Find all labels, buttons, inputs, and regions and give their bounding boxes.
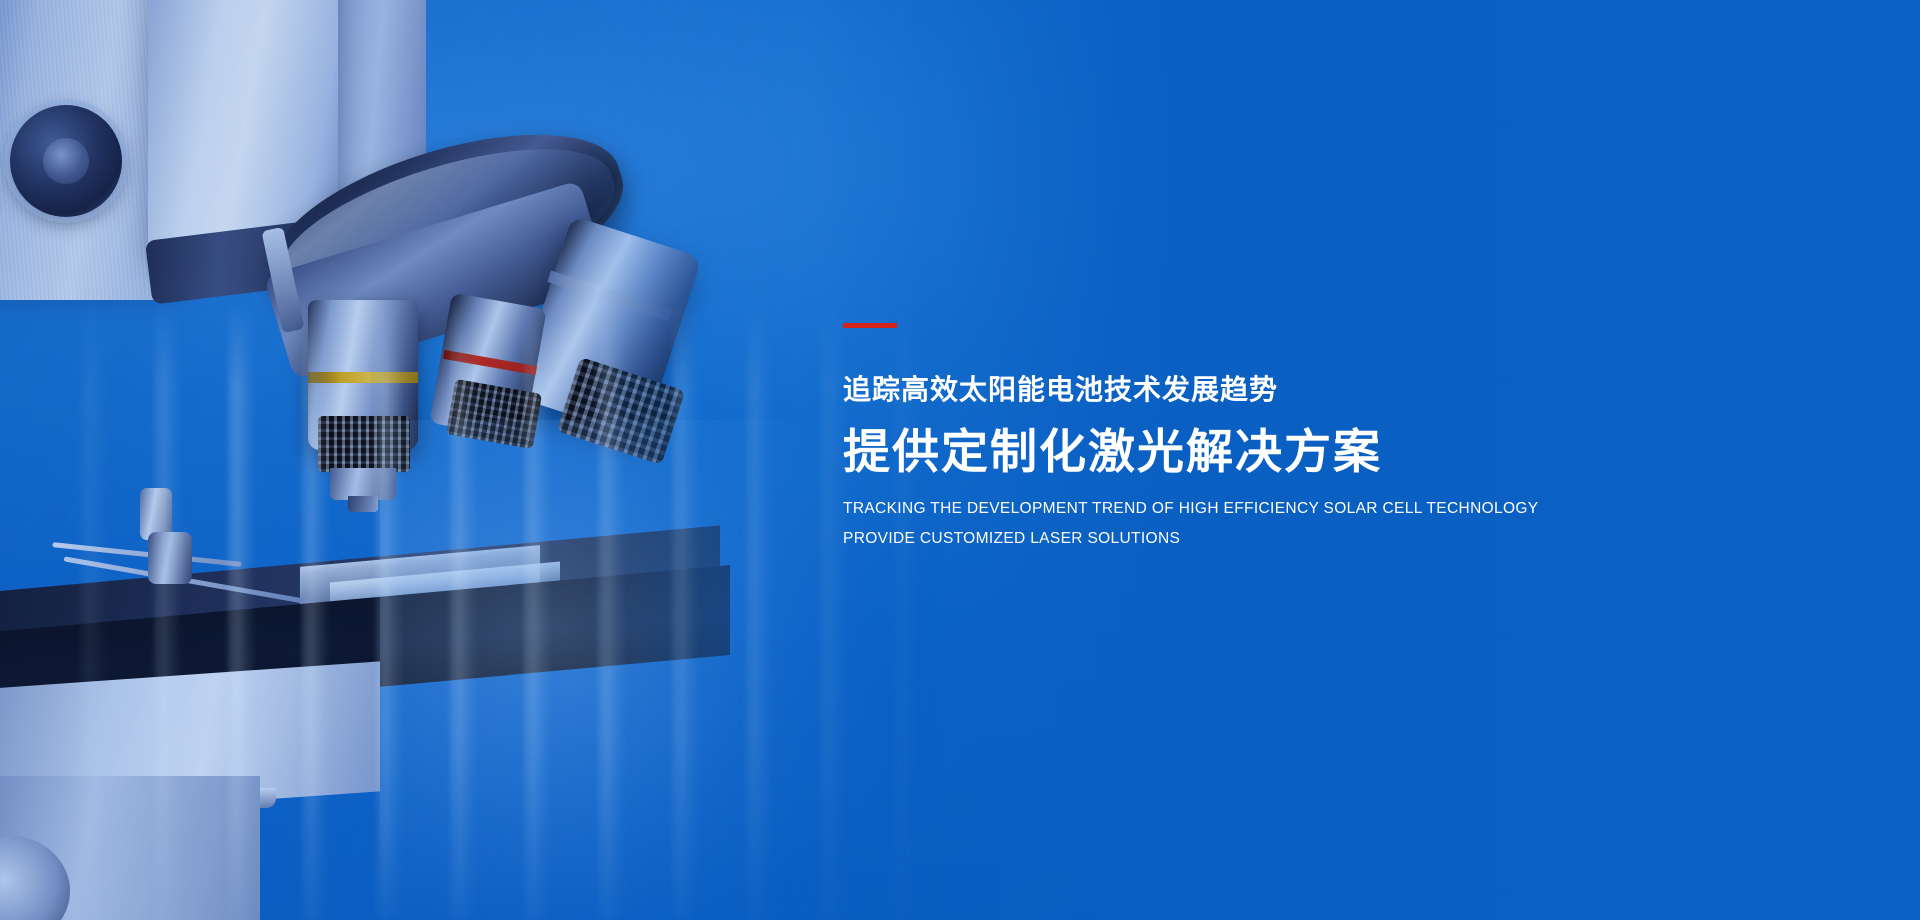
hero-banner: 追踪高效太阳能电池技术发展趋势 提供定制化激光解决方案 TRACKING THE… (0, 0, 1920, 920)
banner-english-line-2: PROVIDE CUSTOMIZED LASER SOLUTIONS (843, 530, 1743, 548)
banner-text-block: 追踪高效太阳能电池技术发展趋势 提供定制化激光解决方案 TRACKING THE… (843, 0, 1843, 920)
banner-subtitle: 追踪高效太阳能电池技术发展趋势 (843, 373, 1743, 407)
light-streaks-decoration (60, 300, 960, 920)
banner-headline: 提供定制化激光解决方案 (843, 424, 1743, 479)
accent-bar (843, 323, 897, 328)
banner-english-line-1: TRACKING THE DEVELOPMENT TREND OF HIGH E… (843, 500, 1743, 518)
